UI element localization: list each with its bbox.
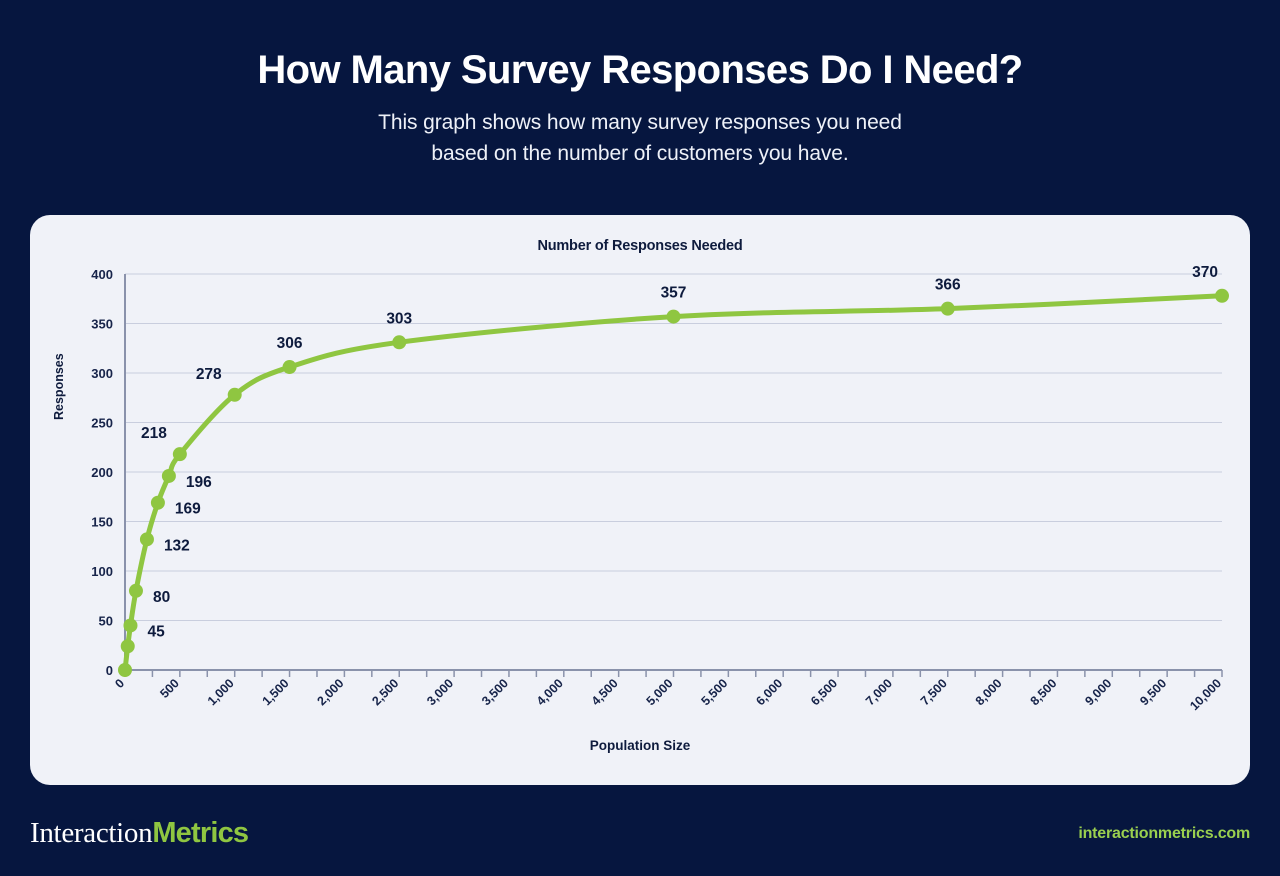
line-chart-svg: 05010015020025030035040005001,0001,5002,… xyxy=(30,215,1250,785)
brand-logo-secondary: Metrics xyxy=(152,817,248,849)
x-tick-label: 7,000 xyxy=(863,676,895,708)
data-point-label: 370 xyxy=(1192,264,1218,281)
y-tick-label: 300 xyxy=(91,366,113,381)
data-point-marker xyxy=(118,663,132,677)
data-point-label: 132 xyxy=(164,537,190,554)
data-point-label: 196 xyxy=(186,474,212,491)
y-tick-label: 350 xyxy=(91,317,113,332)
data-point-marker xyxy=(123,618,137,632)
y-tick-label: 100 xyxy=(91,564,113,579)
brand-logo-primary: Interaction xyxy=(30,817,152,849)
data-point-label: 303 xyxy=(386,310,412,327)
x-tick-label: 8,000 xyxy=(973,676,1005,708)
data-point-label: 278 xyxy=(196,366,222,383)
data-point-marker xyxy=(392,335,406,349)
page-subtitle-line-1: This graph shows how many survey respons… xyxy=(0,107,1280,139)
x-tick-label: 10,000 xyxy=(1187,676,1224,713)
x-tick-label: 0 xyxy=(112,676,127,691)
x-tick-label: 4,500 xyxy=(589,676,621,708)
x-tick-label: 2,000 xyxy=(315,676,347,708)
infographic-page: How Many Survey Responses Do I Need? Thi… xyxy=(0,0,1280,876)
chart-card: Number of Responses Needed Responses Pop… xyxy=(30,215,1250,785)
x-tick-label: 4,000 xyxy=(534,676,566,708)
x-tick-label: 8,500 xyxy=(1028,676,1060,708)
data-point-marker xyxy=(1215,289,1229,303)
data-point-marker xyxy=(121,639,135,653)
page-title: How Many Survey Responses Do I Need? xyxy=(0,48,1280,93)
x-tick-label: 3,500 xyxy=(479,676,511,708)
x-tick-label: 2,500 xyxy=(369,676,401,708)
x-tick-label: 9,500 xyxy=(1137,676,1169,708)
page-subtitle: This graph shows how many survey respons… xyxy=(0,107,1280,170)
data-point-marker xyxy=(129,584,143,598)
data-point-marker xyxy=(667,310,681,324)
x-tick-label: 6,000 xyxy=(753,676,785,708)
brand-logo[interactable]: InteractionMetrics xyxy=(30,819,248,848)
data-point-label: 306 xyxy=(277,335,303,352)
footer: InteractionMetrics interactionmetrics.co… xyxy=(0,805,1280,876)
data-point-marker xyxy=(162,469,176,483)
data-point-label: 366 xyxy=(935,277,961,294)
y-tick-label: 50 xyxy=(99,614,113,629)
plot-area: Responses Population Size 05010015020025… xyxy=(30,215,1250,785)
x-tick-label: 6,500 xyxy=(808,676,840,708)
x-tick-label: 5,500 xyxy=(698,676,730,708)
data-point-label: 80 xyxy=(153,589,170,606)
data-point-label: 45 xyxy=(147,623,165,640)
data-point-label: 169 xyxy=(175,501,201,518)
data-point-label: 357 xyxy=(661,285,687,302)
header: How Many Survey Responses Do I Need? Thi… xyxy=(0,0,1280,170)
y-tick-label: 0 xyxy=(106,663,113,678)
data-point-marker xyxy=(283,360,297,374)
x-tick-label: 5,000 xyxy=(644,676,676,708)
data-point-marker xyxy=(228,388,242,402)
y-tick-label: 400 xyxy=(91,267,113,282)
data-point-marker xyxy=(941,302,955,316)
data-point-marker xyxy=(173,447,187,461)
website-url[interactable]: interactionmetrics.com xyxy=(1078,825,1250,843)
x-tick-label: 1,000 xyxy=(205,676,237,708)
page-subtitle-line-2: based on the number of customers you hav… xyxy=(0,138,1280,170)
x-tick-label: 1,500 xyxy=(260,676,292,708)
x-tick-label: 9,000 xyxy=(1082,676,1114,708)
x-tick-label: 3,000 xyxy=(424,676,456,708)
y-tick-label: 250 xyxy=(91,416,113,431)
data-point-marker xyxy=(140,532,154,546)
y-tick-label: 150 xyxy=(91,515,113,530)
x-tick-label: 500 xyxy=(157,676,182,701)
data-point-label: 218 xyxy=(141,425,167,442)
data-point-marker xyxy=(151,496,165,510)
y-tick-label: 200 xyxy=(91,465,113,480)
x-tick-label: 7,500 xyxy=(918,676,950,708)
